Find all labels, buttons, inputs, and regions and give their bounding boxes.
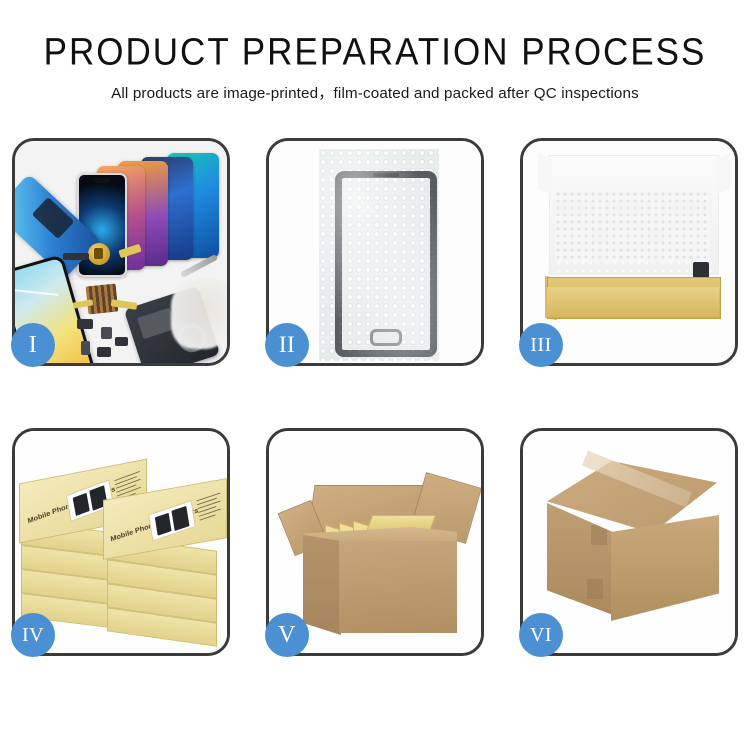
bubble-wrap-gloss bbox=[319, 149, 439, 361]
step-6-numeral-badge: VI bbox=[519, 613, 563, 657]
product-preparation-infographic: PRODUCT PREPARATION PROCESS All products… bbox=[0, 0, 750, 750]
process-step-4: Mobile Phone Spare Parts Mobile Phone Sp… bbox=[12, 428, 230, 656]
process-step-grid: I II bbox=[12, 138, 738, 656]
page-title: PRODUCT PREPARATION PROCESS bbox=[0, 30, 750, 75]
step-5-numeral-badge: V bbox=[265, 613, 309, 657]
carton-side-panel bbox=[303, 535, 341, 635]
foam-padding bbox=[555, 191, 711, 263]
header: PRODUCT PREPARATION PROCESS All products… bbox=[0, 30, 750, 103]
carton-front-panel bbox=[339, 541, 457, 633]
speaker-component-icon bbox=[88, 243, 110, 265]
step-4-numeral-badge: IV bbox=[11, 613, 55, 657]
bubble-wrap-sheet bbox=[319, 149, 439, 361]
carton-left-panel bbox=[547, 503, 613, 615]
step-1-numeral-badge: I bbox=[11, 323, 55, 367]
step-3-numeral-badge: III bbox=[519, 323, 563, 367]
carton-tab bbox=[591, 525, 607, 545]
box-base-front bbox=[547, 287, 719, 317]
process-step-3: III bbox=[520, 138, 738, 366]
small-part-icon bbox=[101, 327, 112, 339]
carton-tab bbox=[587, 579, 603, 599]
small-part-icon bbox=[97, 347, 111, 357]
step-2-numeral-badge: II bbox=[265, 323, 309, 367]
small-part-icon bbox=[77, 319, 93, 329]
hand-icon bbox=[171, 279, 227, 349]
small-part-icon bbox=[63, 253, 89, 260]
small-part-icon bbox=[115, 337, 128, 346]
process-step-2: II bbox=[266, 138, 484, 366]
process-step-5: V bbox=[266, 428, 484, 656]
process-step-1: I bbox=[12, 138, 230, 366]
small-part-icon bbox=[81, 341, 90, 355]
process-step-6: VI bbox=[520, 428, 738, 656]
phone-notch-icon bbox=[93, 178, 111, 183]
carton-right-panel bbox=[611, 515, 719, 621]
page-subtitle: All products are image-printed，film-coat… bbox=[0, 81, 750, 103]
